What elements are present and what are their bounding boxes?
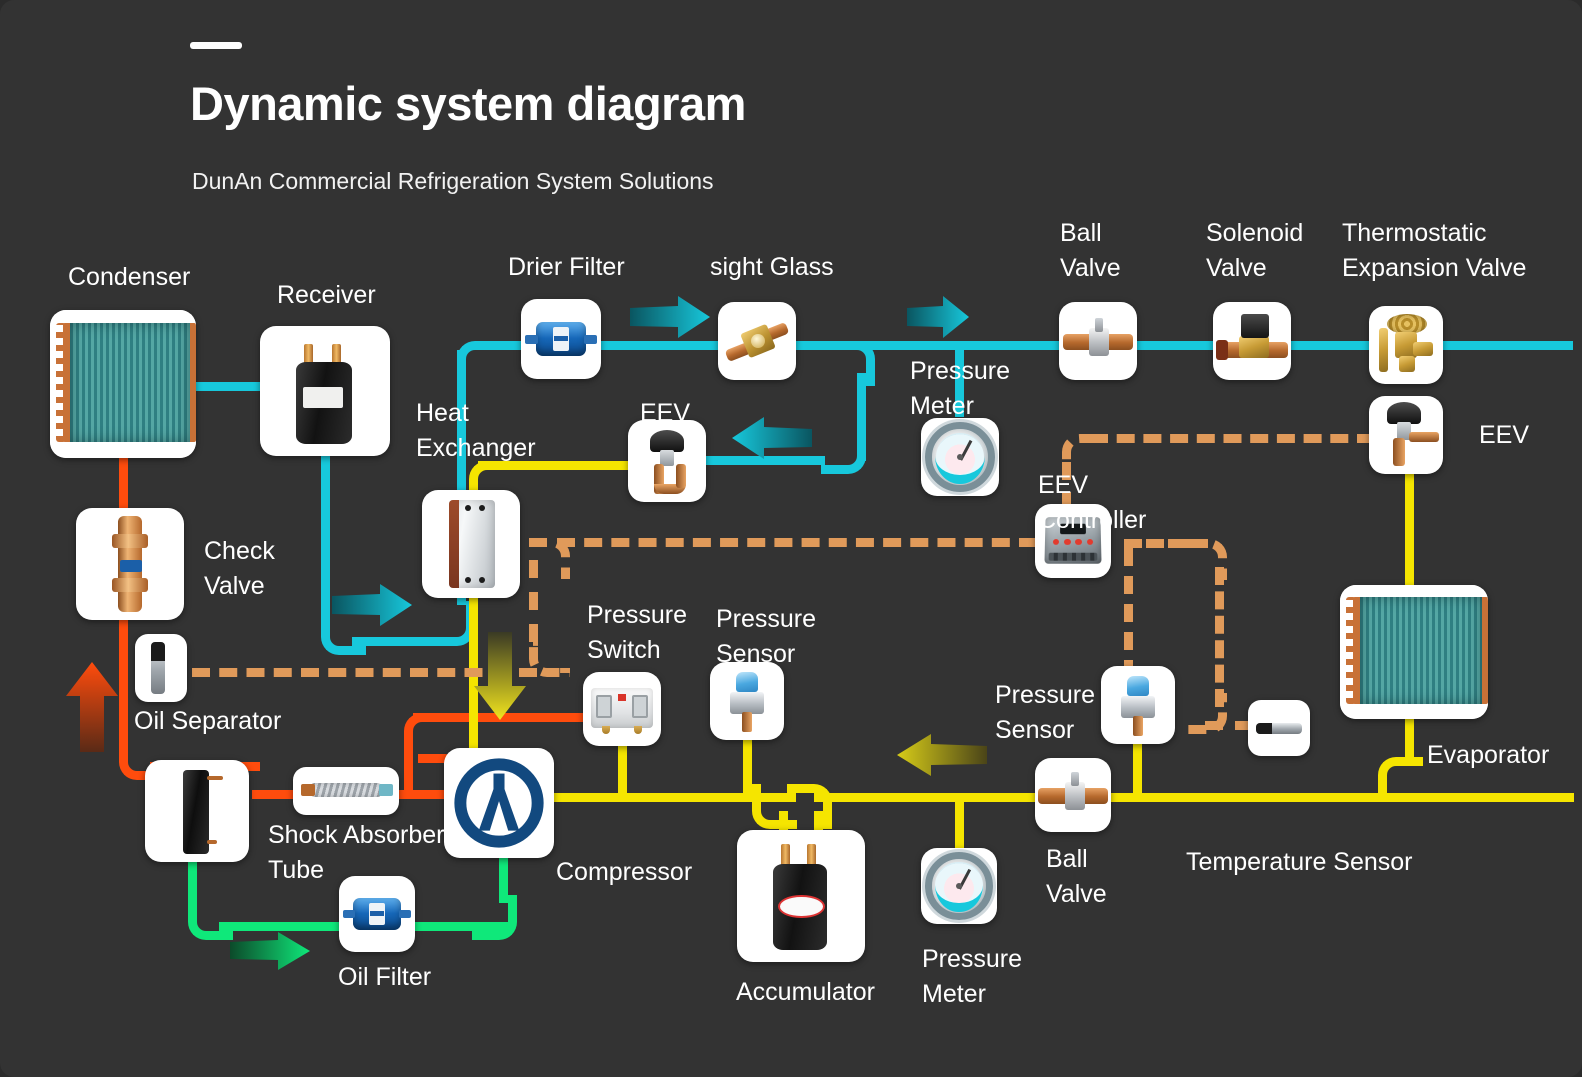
plate-heat-exchanger-icon xyxy=(422,490,520,598)
label-receiver: Receiver xyxy=(277,278,376,313)
label-pressure-sensor-right: Pressure Sensor xyxy=(995,678,1095,747)
label-eev-controller: EEV Controller xyxy=(1038,468,1146,537)
dunan-logo-icon xyxy=(444,748,554,858)
component-oil-separator-vessel[interactable] xyxy=(145,760,249,862)
pressure-switch-icon xyxy=(583,672,661,746)
blue-filter-icon xyxy=(339,876,415,952)
arrow-orange-up xyxy=(62,658,122,754)
component-pressure-sensor-mid[interactable] xyxy=(710,662,784,740)
pipe-cyan-receiver-down xyxy=(321,455,330,630)
check-valve-icon xyxy=(76,508,184,620)
pipe-yellow-sensor-right-tap xyxy=(1133,735,1142,795)
signal-ctrl-to-sensor-right xyxy=(1124,548,1133,678)
pipe-green-up-to-compressor xyxy=(499,855,508,903)
page-subtitle: DunAn Commercial Refrigeration System So… xyxy=(192,168,714,195)
component-sight-glass[interactable] xyxy=(718,302,796,380)
component-pressure-meter-bottom[interactable] xyxy=(921,848,997,924)
arrow-cyan-right-2 xyxy=(905,294,971,340)
component-pressure-sensor-right[interactable] xyxy=(1101,666,1175,744)
label-temperature-sensor: Temperature Sensor xyxy=(1186,845,1413,880)
component-check-valve[interactable] xyxy=(76,508,184,620)
component-condenser[interactable] xyxy=(50,310,196,458)
signal-controller-to-eev-right xyxy=(1090,434,1375,443)
arrow-yellow-down xyxy=(470,630,530,722)
signal-elbow-left-up xyxy=(529,636,570,677)
title-accent-bar xyxy=(190,42,242,49)
component-eev-right[interactable] xyxy=(1369,396,1443,474)
eev-icon xyxy=(628,420,706,502)
label-sight-glass: sight Glass xyxy=(710,250,834,285)
label-eev-right: EEV xyxy=(1479,418,1529,453)
component-evaporator[interactable] xyxy=(1340,585,1488,719)
pipe-orange-condenser-down xyxy=(119,455,128,515)
receiver-tank-icon xyxy=(260,326,390,456)
gauge-icon xyxy=(925,852,994,921)
component-heat-exchanger[interactable] xyxy=(422,490,520,598)
component-receiver[interactable] xyxy=(260,326,390,456)
flexible-hose-icon xyxy=(293,767,399,815)
label-eev-mid: EEV xyxy=(640,396,690,431)
label-shock-absorber-tube: Shock Absorber Tube xyxy=(268,818,445,887)
label-ball-valve-top: Ball Valve xyxy=(1060,216,1121,285)
pipe-cyan-condenser-receiver xyxy=(194,382,268,391)
component-shock-absorber-tube[interactable] xyxy=(293,767,399,815)
label-drier-filter: Drier Filter xyxy=(508,250,625,285)
component-pressure-meter-top[interactable] xyxy=(921,418,999,496)
label-condenser: Condenser xyxy=(68,260,190,295)
elbow-yellow-accum-out xyxy=(787,784,832,829)
label-oil-filter: Oil Filter xyxy=(338,960,431,995)
label-pressure-switch: Pressure Switch xyxy=(587,598,687,667)
label-compressor: Compressor xyxy=(556,855,692,890)
arrow-cyan-left-3 xyxy=(730,415,814,461)
label-heat-exchanger: Heat Exchanger xyxy=(416,396,536,465)
component-txv[interactable] xyxy=(1369,306,1443,384)
label-oil-separator: Oil Separator xyxy=(134,704,281,739)
diagram-canvas: Dynamic system diagram DunAn Commercial … xyxy=(0,0,1582,1077)
pipe-yellow-evap-in xyxy=(1405,718,1414,764)
pressure-sensor-icon xyxy=(1101,666,1175,744)
component-eev-mid[interactable] xyxy=(628,420,706,502)
blue-filter-icon xyxy=(521,299,601,379)
component-compressor[interactable] xyxy=(444,748,554,858)
oil-separator-probe-icon xyxy=(151,642,165,694)
accumulator-tank-icon xyxy=(737,830,865,962)
temperature-probe-icon xyxy=(1256,723,1302,734)
label-solenoid-valve: Solenoid Valve xyxy=(1206,216,1303,285)
component-pressure-switch[interactable] xyxy=(583,672,661,746)
elbow-cyan-eev-branch-top xyxy=(830,341,875,386)
pressure-sensor-icon xyxy=(710,662,784,740)
arrow-cyan-right-4 xyxy=(330,582,414,628)
gauge-icon xyxy=(925,422,995,492)
signal-to-temp-sensor xyxy=(1205,721,1253,730)
pipe-orange-switch-down xyxy=(404,745,413,795)
component-accumulator[interactable] xyxy=(737,830,865,962)
component-solenoid-valve[interactable] xyxy=(1213,302,1291,380)
component-oil-separator-probe[interactable] xyxy=(135,634,187,702)
pipe-yellow-evap-top xyxy=(1405,468,1414,588)
label-ball-valve-bottom: Ball Valve xyxy=(1046,842,1107,911)
label-accumulator: Accumulator xyxy=(736,975,875,1010)
signal-ctrl-row-run xyxy=(557,538,1037,547)
condenser-coil-icon xyxy=(50,310,196,458)
arrow-cyan-right-1 xyxy=(628,294,712,340)
label-pressure-meter-top: Pressure Meter xyxy=(910,354,1010,423)
evaporator-coil-icon xyxy=(1340,585,1488,719)
component-oil-filter[interactable] xyxy=(339,876,415,952)
label-pressure-sensor-mid: Pressure Sensor xyxy=(716,602,816,671)
oil-separator-vessel-icon xyxy=(145,760,249,862)
sight-glass-icon xyxy=(718,302,796,380)
label-evaporator: Evaporator xyxy=(1427,738,1549,773)
page-title: Dynamic system diagram xyxy=(190,76,746,131)
txv-icon xyxy=(1369,306,1443,384)
signal-temp-down xyxy=(1215,567,1224,707)
pipe-yellow-switch-tap xyxy=(618,745,627,797)
elbow-green-right xyxy=(472,895,517,940)
label-pressure-meter-bottom: Pressure Meter xyxy=(922,942,1022,1011)
component-ball-valve-top[interactable] xyxy=(1059,302,1137,380)
solenoid-valve-icon xyxy=(1213,302,1291,380)
pipe-yellow-suction-run-b xyxy=(814,793,1574,802)
elbow-cyan-eev-branch-bottom xyxy=(821,429,866,474)
ball-valve-icon xyxy=(1035,758,1111,832)
label-check-valve: Check Valve xyxy=(204,534,275,603)
component-drier-filter[interactable] xyxy=(521,299,601,379)
label-txv: Thermostatic Expansion Valve xyxy=(1342,216,1526,285)
elbow-yellow-evap-bottom xyxy=(1378,757,1423,802)
ball-valve-icon xyxy=(1059,302,1137,380)
arrow-yellow-left xyxy=(895,732,989,778)
pipe-yellow-meter-bottom-tap xyxy=(955,793,964,848)
elbow-green-left xyxy=(188,895,233,940)
arrow-green-right xyxy=(228,930,312,972)
pipe-cyan-to-hx-bottom xyxy=(352,637,438,646)
eev-icon xyxy=(1369,396,1443,474)
component-ball-valve-bottom[interactable] xyxy=(1035,758,1111,832)
component-temperature-sensor[interactable] xyxy=(1248,700,1310,756)
